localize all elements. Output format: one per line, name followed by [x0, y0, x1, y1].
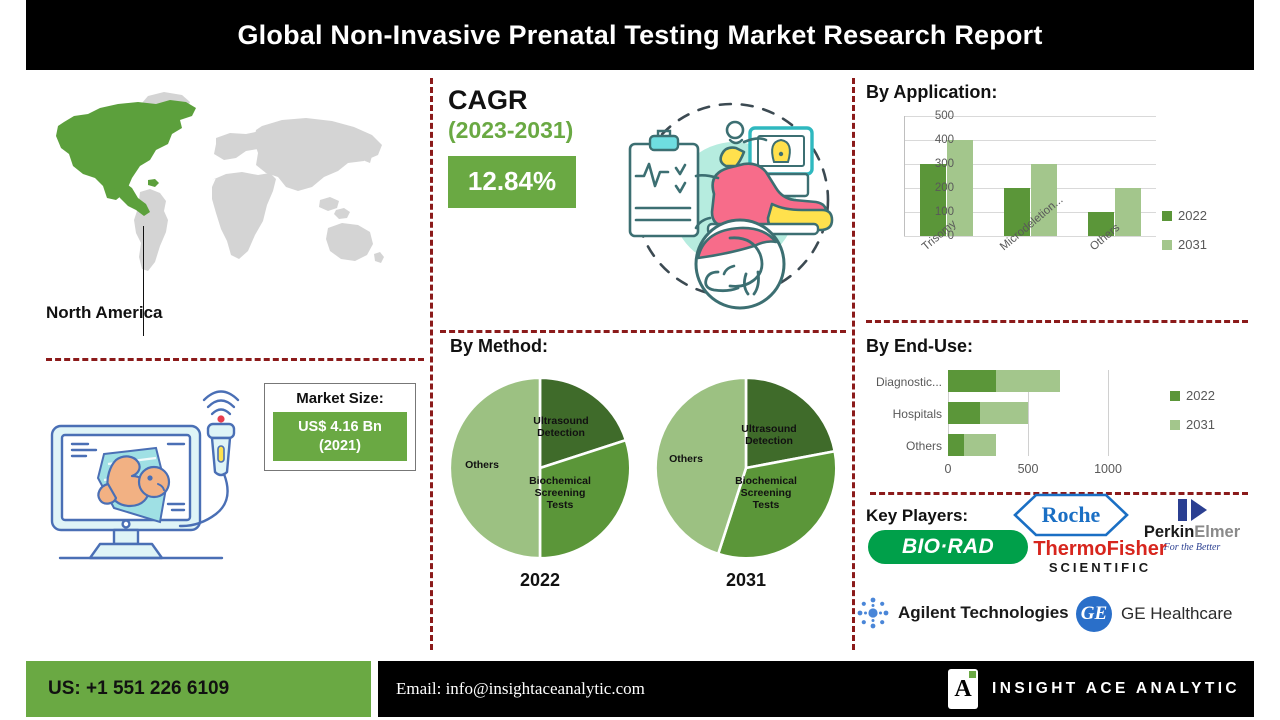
perkinelmer-bar-icon: [1178, 499, 1187, 521]
roche-logo: Roche: [1012, 492, 1130, 538]
by-method-charts: UltrasoundDetection BiochemicalScreening…: [432, 368, 850, 638]
pie-2022-year: 2022: [446, 570, 634, 591]
bio-rad-logo: BIO·RAD: [868, 530, 1028, 564]
footer-phone-text: US: +1 551 226 6109: [26, 678, 229, 700]
bar-row-diagnostic: [948, 370, 1148, 392]
enduse-bars: [948, 370, 1148, 456]
by-application-chart: 500 400 300 200 100 0 Trisomy Microdelet…: [862, 112, 1252, 292]
legend-item-2022-enduse: 2022: [1170, 388, 1215, 403]
bar-row-hospitals: [948, 402, 1148, 424]
xtick-0: 0: [945, 462, 952, 476]
legend-swatch-2031-enduse: [1170, 420, 1180, 430]
pie-chart-2022: [446, 374, 634, 562]
market-size-value: US$ 4.16 Bn: [277, 418, 403, 437]
header-bar: Global Non-Invasive Prenatal Testing Mar…: [26, 0, 1254, 70]
ge-monogram-text: GE: [1081, 603, 1107, 625]
market-size-value-box: US$ 4.16 Bn (2021): [273, 412, 407, 461]
legend-item-2031-enduse: 2031: [1170, 417, 1215, 432]
ytick-100: 100: [922, 206, 954, 218]
ytick-others-h: Others: [862, 439, 942, 453]
pie-2031-year: 2031: [652, 570, 840, 591]
bar-row-others: [948, 434, 1148, 456]
legend-swatch-2022: [1162, 211, 1172, 221]
brand-name: INSIGHT ACE ANALYTIC: [992, 680, 1240, 698]
ytick-200: 200: [922, 182, 954, 194]
agilent-starburst-icon: [856, 596, 890, 630]
bar-diagnostic-2031: [996, 370, 1060, 392]
ge-healthcare-logo: GE GE Healthcare: [1076, 596, 1256, 632]
ytick-500: 500: [922, 110, 954, 122]
prenatal-care-illustration: [622, 86, 837, 314]
perkinelmer-mark-icon: [1132, 498, 1252, 522]
legend-item-2031: 2031: [1162, 237, 1207, 252]
legend-label-2022: 2022: [1178, 208, 1207, 223]
brand-accent-square-icon: [969, 671, 976, 678]
middle-column: CAGR (2023-2031) 12.84%: [432, 78, 850, 650]
left-column: North America: [26, 78, 426, 650]
bar-hospitals-2031: [980, 402, 1028, 424]
pie-chart-2031: [652, 374, 840, 562]
ge-monogram-icon: GE: [1076, 596, 1112, 632]
world-map: [44, 88, 412, 293]
by-end-use-chart: Diagnostic... Hospitals Others 0 500 100…: [862, 366, 1252, 501]
ytick-hospitals: Hospitals: [862, 407, 942, 421]
infographic-page: Global Non-Invasive Prenatal Testing Mar…: [0, 0, 1280, 720]
cagr-period: (2023-2031): [448, 117, 628, 145]
key-players-logos: BIO·RAD Roche PerkinElmer For the Better…: [854, 496, 1254, 646]
by-end-use-title: By End-Use:: [866, 336, 973, 357]
bar-others-2031-h: [964, 434, 996, 456]
cagr-label: CAGR: [448, 86, 628, 115]
thermofisher-logo: ThermoFisher SCIENTIFIC: [1014, 538, 1186, 575]
bar-hospitals-2022: [948, 402, 980, 424]
bar-group-others: [1072, 116, 1156, 236]
xtick-1000: 1000: [1094, 462, 1122, 476]
footer-bar: Email: info@insightaceanalytic.com A INS…: [378, 661, 1254, 717]
ytick-400: 400: [922, 134, 954, 146]
brand-mark-icon: A: [948, 669, 978, 709]
bar-others-2022-h: [948, 434, 964, 456]
application-legend: 2022 2031: [1162, 208, 1207, 266]
ge-healthcare-label: GE Healthcare: [1121, 604, 1233, 624]
footer-email-text: Email: info@insightaceanalytic.com: [378, 679, 645, 699]
legend-label-2022-enduse: 2022: [1186, 388, 1215, 403]
cagr-value: 12.84%: [448, 156, 576, 208]
ultrasound-monitor-icon: [42, 388, 272, 588]
page-title: Global Non-Invasive Prenatal Testing Mar…: [237, 20, 1042, 51]
bar-diagnostic-2022: [948, 370, 996, 392]
perkinelmer-triangle-icon: [1191, 499, 1207, 521]
market-size-title: Market Size:: [273, 390, 407, 407]
thermofisher-line1: ThermoFisher: [1014, 538, 1186, 561]
cagr-block: CAGR (2023-2031) 12.84%: [448, 86, 628, 208]
perkinelmer-elmer: Elmer: [1194, 523, 1240, 541]
ytick-diagnostic: Diagnostic...: [862, 375, 942, 389]
legend-label-2031: 2031: [1178, 237, 1207, 252]
market-size-box: Market Size: US$ 4.16 Bn (2021): [264, 383, 416, 471]
ytick-300: 300: [922, 158, 954, 170]
agilent-label: Agilent Technologies: [898, 603, 1069, 623]
region-label: North America: [46, 303, 163, 323]
legend-item-2022: 2022: [1162, 208, 1207, 223]
roche-label: Roche: [1012, 492, 1130, 538]
right-column: By Application:: [854, 78, 1254, 650]
agilent-logo: Agilent Technologies: [856, 596, 1096, 630]
market-size-year: (2021): [277, 437, 403, 456]
legend-swatch-2031: [1162, 240, 1172, 250]
xtick-500: 500: [1018, 462, 1039, 476]
brand-logo: A INSIGHT ACE ANALYTIC: [948, 661, 1240, 717]
legend-label-2031-enduse: 2031: [1186, 417, 1215, 432]
enduse-legend: 2022 2031: [1170, 388, 1215, 446]
brand-mark-letter: A: [954, 677, 971, 701]
by-application-title: By Application:: [866, 82, 997, 103]
bio-rad-label: BIO·RAD: [902, 535, 994, 559]
legend-swatch-2022-enduse: [1170, 391, 1180, 401]
footer-phone-box: US: +1 551 226 6109: [26, 661, 371, 717]
by-method-title: By Method:: [450, 336, 548, 357]
thermofisher-line2: SCIENTIFIC: [1014, 560, 1186, 575]
